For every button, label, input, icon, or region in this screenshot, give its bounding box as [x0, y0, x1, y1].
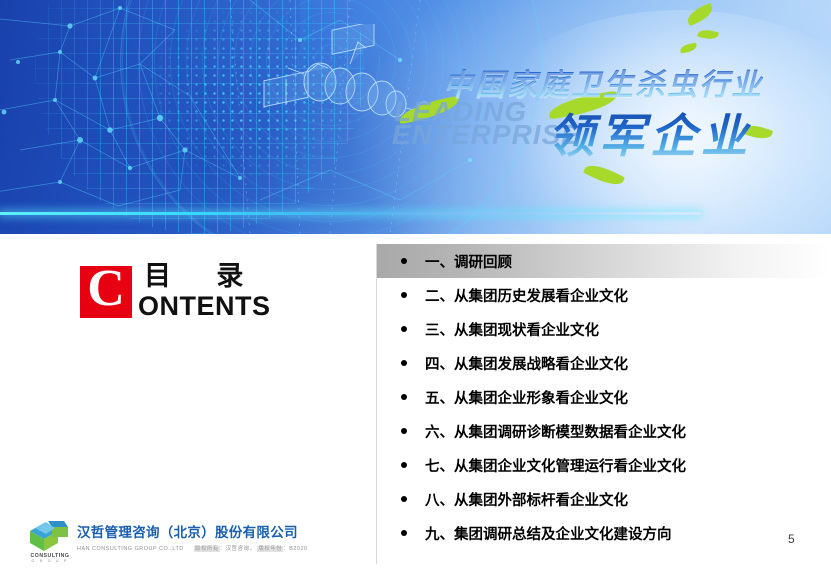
cube-logo-icon: CONSULTING G R O U P: [26, 519, 70, 553]
contents-label-en: ONTENTS: [138, 293, 271, 320]
contents-initial-badge: C: [80, 266, 132, 318]
footer-meta-2-label: 版权年份: [257, 546, 283, 552]
footer-meta-1-value: 汉哲咨询: [226, 546, 250, 552]
bullet-icon: [401, 394, 407, 400]
page-number: 5: [788, 532, 795, 546]
footer-company-cn: 汉哲管理咨询（北京）股份有限公司: [77, 521, 308, 541]
bullet-icon: [401, 258, 407, 264]
toc-item[interactable]: 七、从集团企业文化管理运行看企业文化: [377, 448, 831, 482]
toc-item-label: 三、从集团现状看企业文化: [425, 319, 599, 340]
toc-item-label: 四、从集团发展战略看企业文化: [425, 353, 628, 374]
toc-item-label: 六、从集团调研诊断模型数据看企业文化: [425, 421, 686, 442]
toc-item[interactable]: 八、从集团外部标杆看企业文化: [377, 482, 831, 516]
bullet-icon: [401, 530, 407, 536]
footer-meta-2-value: B2020: [289, 546, 307, 552]
bullet-icon: [401, 326, 407, 332]
contents-initial-letter: C: [87, 263, 125, 315]
header-banner: 中国家庭卫生杀虫行业 LEADING ENTERPRISE 领军企业: [0, 0, 831, 234]
toc-item-label: 九、集团调研总结及企业文化建设方向: [425, 523, 672, 544]
toc-item[interactable]: 六、从集团调研诊断模型数据看企业文化: [377, 414, 831, 448]
contents-label-cn: 目 录: [138, 263, 271, 291]
toc-item-label: 八、从集团外部标杆看企业文化: [425, 489, 628, 510]
bullet-icon: [401, 360, 407, 366]
cube-logo-sub: G R O U P: [26, 559, 74, 563]
footer-company-en: HAN CONSULTING GROUP CO.,LTD: [77, 546, 184, 552]
toc-item[interactable]: 二、从集团历史发展看企业文化: [377, 278, 831, 312]
light-streak: [0, 212, 700, 215]
toc-item[interactable]: 四、从集团发展战略看企业文化: [377, 346, 831, 380]
slide-canvas: 中国家庭卫生杀虫行业 LEADING ENTERPRISE 领军企业 C 目 录…: [0, 0, 831, 574]
bullet-icon: [401, 428, 407, 434]
footer-company-meta: HAN CONSULTING GROUP CO.,LTD 版权所有：汉哲咨询， …: [77, 544, 308, 552]
toc-item[interactable]: 三、从集团现状看企业文化: [377, 312, 831, 346]
contents-logo: C 目 录 ONTENTS: [80, 263, 271, 320]
banner-title-cn-secondary: 领军企业: [548, 100, 752, 166]
bullet-icon: [401, 496, 407, 502]
toc-item-label: 七、从集团企业文化管理运行看企业文化: [425, 455, 686, 476]
footer-logo: CONSULTING G R O U P 汉哲管理咨询（北京）股份有限公司 HA…: [26, 519, 308, 553]
bullet-icon: [401, 462, 407, 468]
toc-item[interactable]: 一、调研回顾: [377, 244, 831, 278]
toc-list: 一、调研回顾二、从集团历史发展看企业文化三、从集团现状看企业文化四、从集团发展战…: [377, 244, 831, 550]
toc-item-label: 二、从集团历史发展看企业文化: [425, 285, 628, 306]
footer-meta-1-label: 版权所有: [194, 546, 220, 552]
toc-item[interactable]: 九、集团调研总结及企业文化建设方向: [377, 516, 831, 550]
bullet-icon: [401, 292, 407, 298]
toc-item[interactable]: 五、从集团企业形象看企业文化: [377, 380, 831, 414]
toc-item-label: 一、调研回顾: [425, 251, 512, 272]
toc-item-label: 五、从集团企业形象看企业文化: [425, 387, 628, 408]
